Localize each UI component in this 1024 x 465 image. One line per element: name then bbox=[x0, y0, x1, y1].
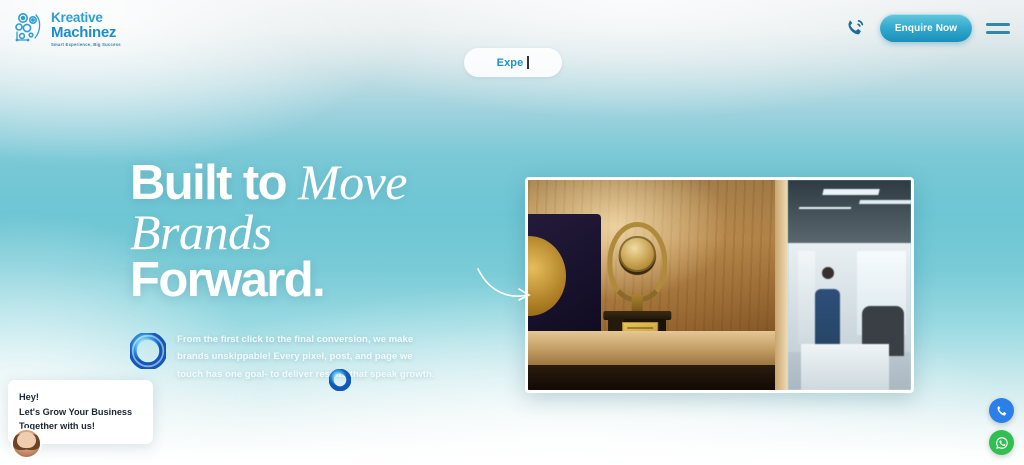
hero-description-row: From the first click to the final conver… bbox=[130, 331, 505, 384]
text-cursor bbox=[527, 56, 529, 69]
brand-logo[interactable]: Kreative Machinez Smart Experience, Big … bbox=[14, 9, 121, 47]
whatsapp-icon bbox=[995, 436, 1009, 450]
enquire-now-button[interactable]: Enquire Now bbox=[880, 14, 972, 42]
office-blurred-photo bbox=[788, 180, 911, 390]
blue-ring-small-icon bbox=[329, 369, 351, 391]
phone-icon bbox=[995, 404, 1009, 418]
hero-paragraph-text: From the first click to the final conver… bbox=[177, 334, 434, 380]
agent-avatar bbox=[11, 428, 42, 459]
floating-action-buttons bbox=[989, 398, 1014, 455]
curved-arrow-icon bbox=[474, 263, 538, 309]
gears-logo-icon bbox=[14, 11, 46, 45]
logo-wordmark: Kreative Machinez Smart Experience, Big … bbox=[51, 9, 121, 47]
site-header: Kreative Machinez Smart Experience, Big … bbox=[0, 0, 1024, 56]
header-actions: Enquire Now bbox=[844, 14, 1010, 42]
logo-line-two: Machinez bbox=[51, 25, 121, 40]
chat-line-two: Let's Grow Your Business bbox=[19, 405, 142, 420]
page-title: Built to Move Brands Forward. bbox=[130, 158, 505, 305]
hero-paragraph: From the first click to the final conver… bbox=[177, 331, 439, 384]
hero-content: Built to Move Brands Forward. From the f… bbox=[130, 158, 505, 384]
logo-tagline: Smart Experience, Big Success bbox=[51, 43, 121, 47]
call-button[interactable] bbox=[989, 398, 1014, 423]
headline-part-two: Forward. bbox=[130, 253, 324, 307]
chat-widget[interactable]: Hey! Let's Grow Your Business Together w… bbox=[8, 380, 153, 444]
hero-image bbox=[525, 177, 914, 393]
headline-part-one: Built to bbox=[130, 156, 298, 210]
logo-line-one: Kreative bbox=[51, 11, 121, 25]
blue-ring-icon bbox=[130, 333, 166, 369]
whatsapp-button[interactable] bbox=[989, 430, 1014, 455]
chat-line-one: Hey! bbox=[19, 390, 142, 405]
trophy-shelf-photo bbox=[528, 180, 788, 390]
hamburger-menu-icon[interactable] bbox=[986, 23, 1010, 34]
phone-ring-icon[interactable] bbox=[844, 17, 866, 39]
search-input-value: Expe bbox=[497, 57, 524, 69]
